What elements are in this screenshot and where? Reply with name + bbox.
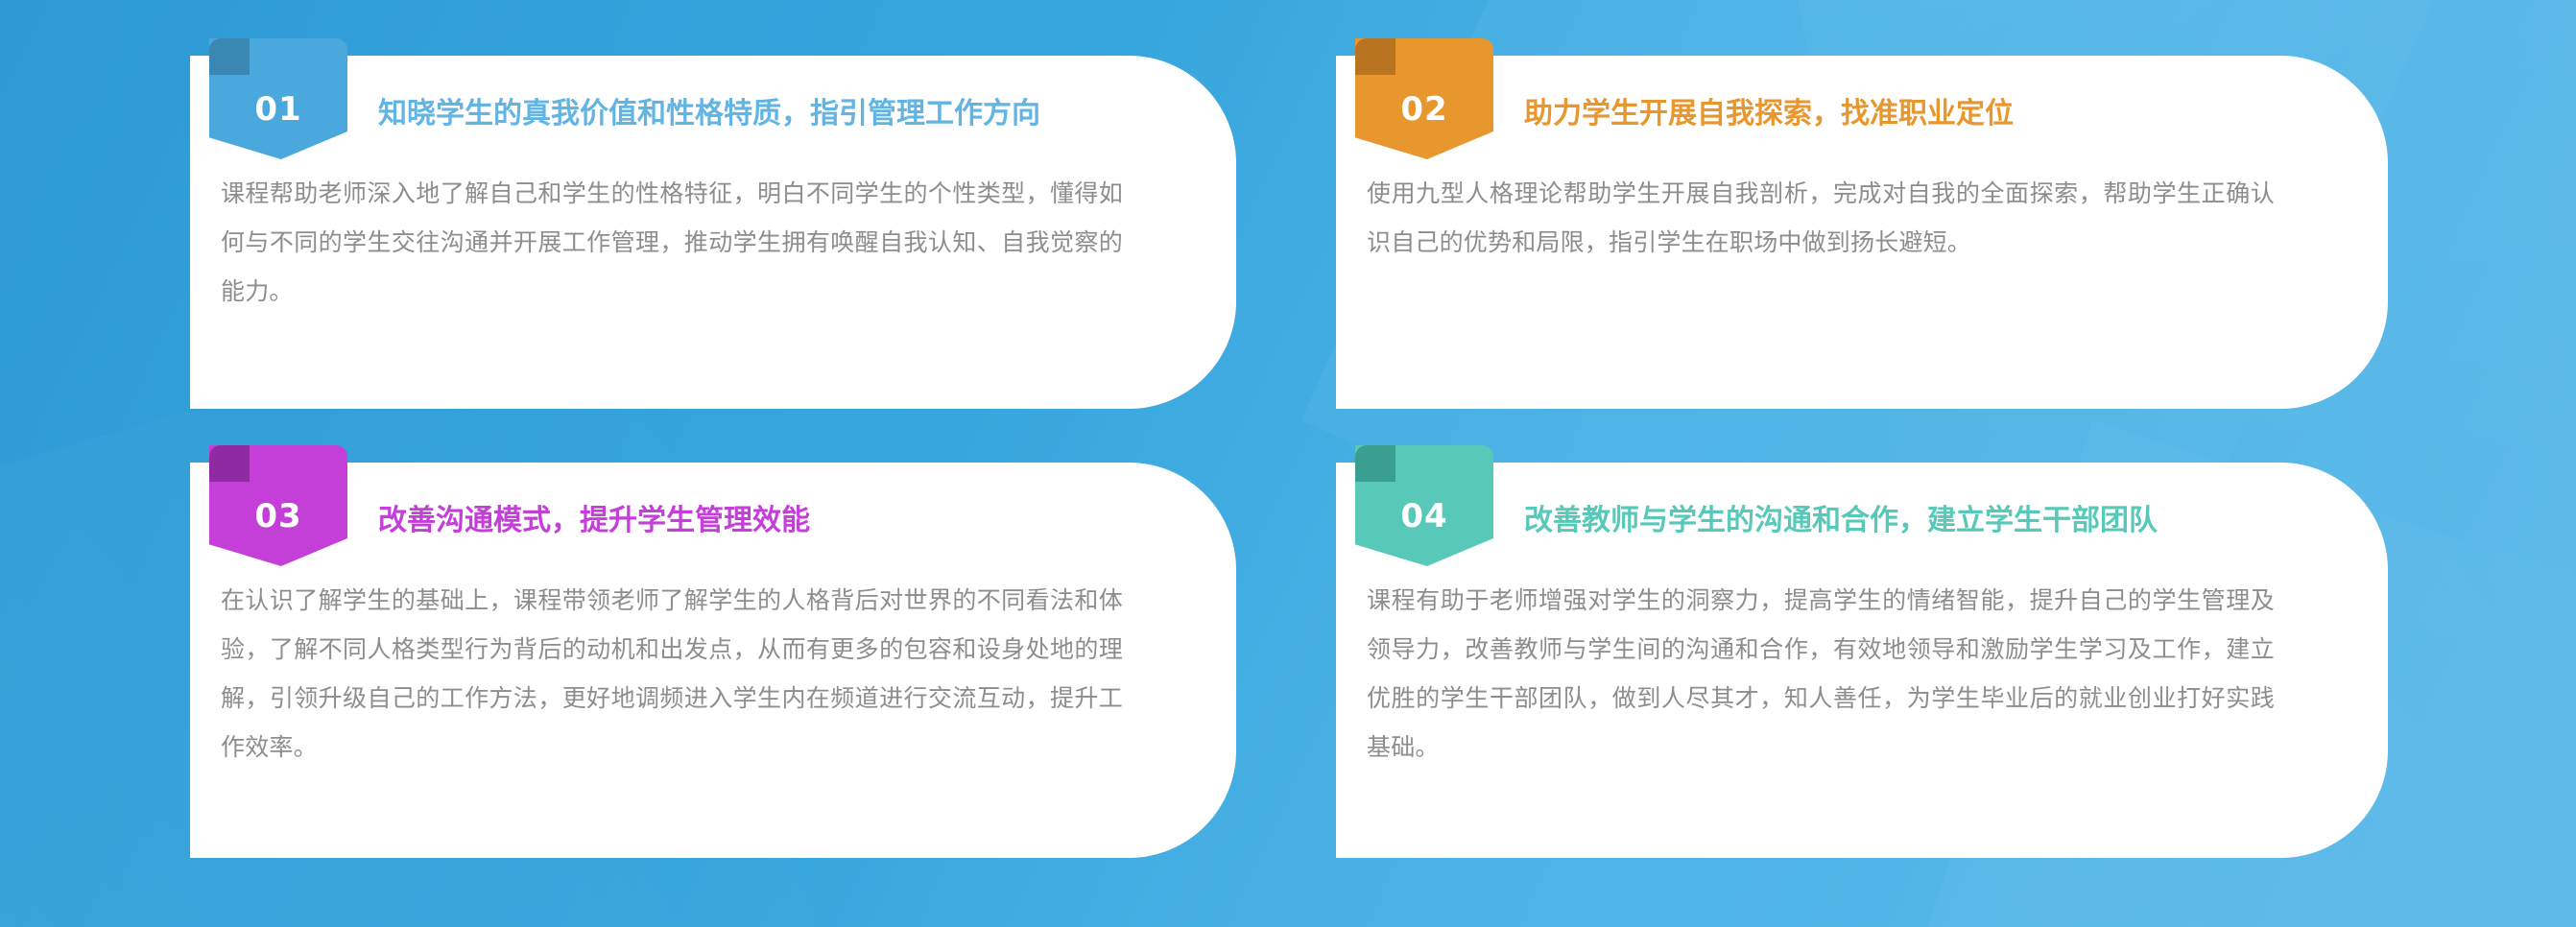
card-body: 课程有助于老师增强对学生的洞察力，提高学生的情绪智能，提升自己的学生管理及领导力… [1367,576,2275,772]
card-headline: 改善沟通模式，提升学生管理效能 [378,505,810,536]
benefit-card-grid: 01 知晓学生的真我价值和性格特质，指引管理工作方向 课程帮助老师深入地了解自己… [0,0,2576,927]
card-headline: 助力学生开展自我探索，找准职业定位 [1524,98,2014,130]
ribbon-badge-02: 02 [1355,38,1493,159]
benefit-card-04[interactable]: 04 改善教师与学生的沟通和合作，建立学生干部团队 课程有助于老师增强对学生的洞… [1336,463,2388,858]
benefit-card-03[interactable]: 03 改善沟通模式，提升学生管理效能 在认识了解学生的基础上，课程带领老师了解学… [190,463,1236,858]
benefit-card-02[interactable]: 02 助力学生开展自我探索，找准职业定位 使用九型人格理论帮助学生开展自我剖析，… [1336,56,2388,409]
card-body: 使用九型人格理论帮助学生开展自我剖析，完成对自我的全面探索，帮助学生正确认识自己… [1367,169,2275,267]
ribbon-badge-04: 04 [1355,445,1493,566]
card-number: 02 [1355,93,1493,126]
card-number: 04 [1355,500,1493,533]
card-headline: 知晓学生的真我价值和性格特质，指引管理工作方向 [378,98,1040,130]
ribbon-badge-01: 01 [209,38,347,159]
card-number: 03 [209,500,347,533]
ribbon-fold-icon [1355,38,1395,75]
card-body: 课程帮助老师深入地了解自己和学生的性格特征，明白不同学生的个性类型，懂得如何与不… [221,169,1123,316]
ribbon-fold-icon [209,38,250,75]
slide-canvas: 01 知晓学生的真我价值和性格特质，指引管理工作方向 课程帮助老师深入地了解自己… [0,0,2576,927]
ribbon-badge-03: 03 [209,445,347,566]
ribbon-fold-icon [209,445,250,482]
benefit-card-01[interactable]: 01 知晓学生的真我价值和性格特质，指引管理工作方向 课程帮助老师深入地了解自己… [190,56,1236,409]
ribbon-fold-icon [1355,445,1395,482]
card-body: 在认识了解学生的基础上，课程带领老师了解学生的人格背后对世界的不同看法和体验，了… [221,576,1123,772]
card-headline: 改善教师与学生的沟通和合作，建立学生干部团队 [1524,505,2158,536]
card-number: 01 [209,93,347,126]
